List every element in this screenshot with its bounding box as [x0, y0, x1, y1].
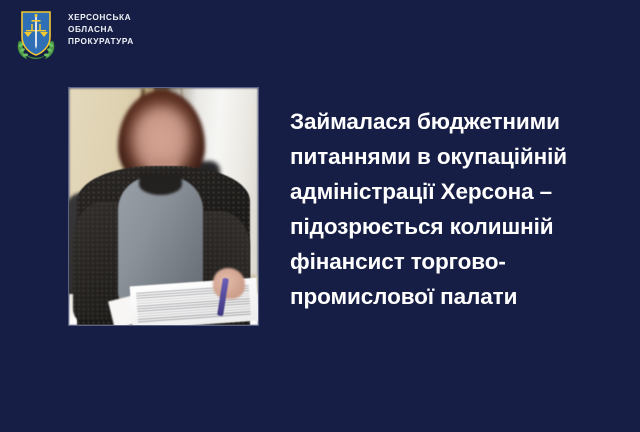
- headline-line-1: Займалася бюджетними: [290, 104, 590, 139]
- headline-line-5: фінансист торгово-: [290, 244, 590, 279]
- brand-header: ХЕРСОНСЬКА ОБЛАСНА ПРОКУРАТУРА: [13, 7, 134, 63]
- headline-line-6: промислової палати: [290, 279, 590, 314]
- photo-person-collar: [139, 173, 182, 194]
- news-card: { "theme": { "background": "#171E45", "t…: [0, 0, 640, 432]
- brand-line-3: ПРОКУРАТУРА: [68, 36, 134, 47]
- headline-line-4: підозрюється колишній: [290, 209, 590, 244]
- subject-photo: [68, 87, 259, 326]
- brand-line-1: ХЕРСОНСЬКА: [68, 12, 134, 23]
- headline-line-3: адміністрації Херсона –: [290, 174, 590, 209]
- photo-content: [69, 88, 258, 325]
- prosecutors-office-emblem-icon: [13, 7, 59, 63]
- brand-line-2: ОБЛАСНА: [68, 24, 134, 35]
- headline-line-2: питаннями в окупаційній: [290, 139, 590, 174]
- headline: Займалася бюджетними питаннями в окупаці…: [290, 104, 590, 314]
- photo-person-hand: [213, 268, 245, 299]
- brand-title: ХЕРСОНСЬКА ОБЛАСНА ПРОКУРАТУРА: [68, 7, 134, 47]
